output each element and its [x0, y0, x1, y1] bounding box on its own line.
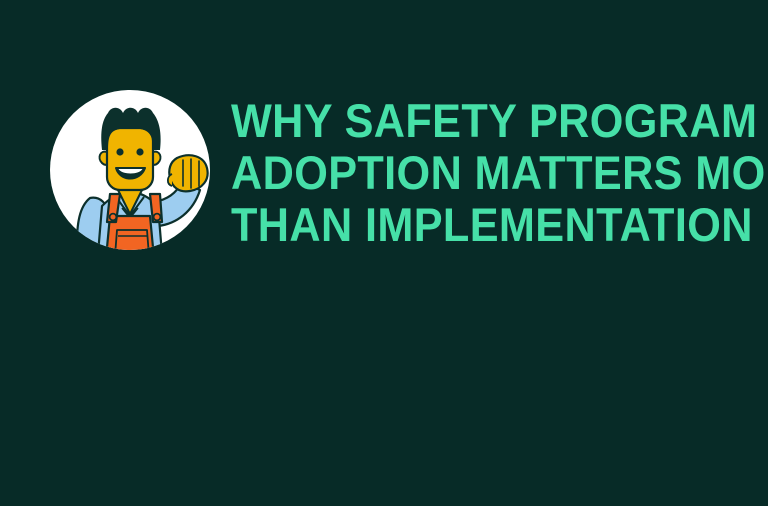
- avatar-strap-button-left: [110, 214, 117, 221]
- page-title: WHY SAFETY PROGRAM ADOPTION MATTERS MORE…: [231, 95, 731, 251]
- avatar-strap-button-right: [154, 214, 161, 221]
- page-title-line-3: THAN IMPLEMENTATION: [231, 199, 691, 251]
- page-title-line-2: ADOPTION MATTERS MORE: [231, 147, 691, 199]
- page-title-line-1: WHY SAFETY PROGRAM: [231, 95, 691, 147]
- avatar-face: [107, 128, 153, 190]
- avatar-waving-hand: [168, 155, 208, 191]
- avatar-eye-right: [136, 148, 143, 155]
- avatar: [50, 90, 210, 250]
- avatar-eye-left: [116, 148, 123, 155]
- article-hero-banner: WHY SAFETY PROGRAM ADOPTION MATTERS MORE…: [0, 0, 768, 506]
